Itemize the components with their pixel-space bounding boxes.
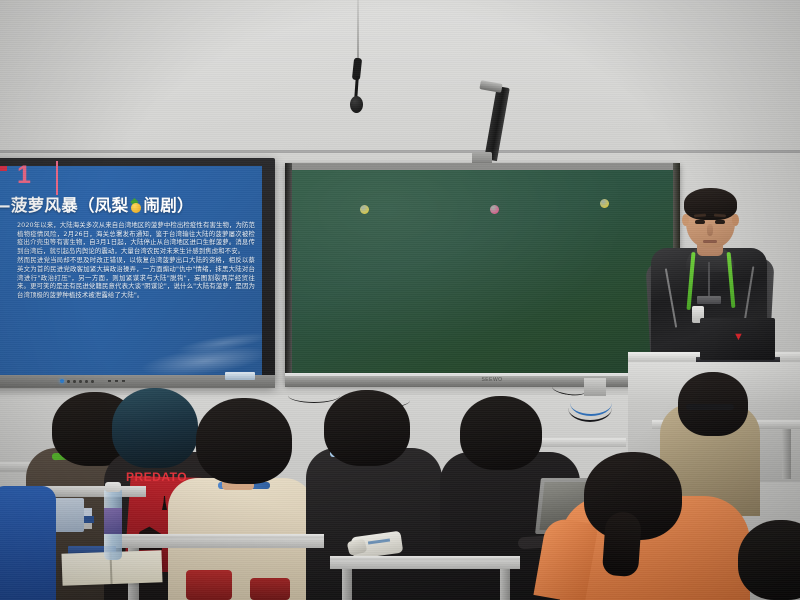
- magnet-pink-center: [490, 205, 499, 214]
- student-orange-ponytail: [602, 511, 642, 577]
- presenter-eye-left: [695, 220, 705, 224]
- presenter-nose: [707, 224, 713, 236]
- slide-paragraph-1: 2020年以来，大陆海关多次从来自台湾地区的菠萝中检出检疫性有害生物，为防范植物…: [17, 221, 255, 255]
- display-button-group-secondary[interactable]: [108, 380, 125, 382]
- presenter-zipper: [708, 262, 710, 296]
- screen-glare: [139, 340, 262, 375]
- presenter-mouth: [703, 240, 717, 243]
- display-aux-button-2[interactable]: [115, 380, 118, 382]
- student-right-hoodie-head: [460, 396, 542, 470]
- presenter-hair: [684, 188, 737, 220]
- student-predator-head: [112, 388, 198, 468]
- display-button-3[interactable]: [79, 380, 82, 383]
- classroom-photo: SEEWO 1 —菠萝风暴（凤梨闹剧） 2020年以来，大陆海关多次从来自台湾地…: [0, 0, 800, 600]
- green-chalkboard: [292, 170, 673, 373]
- front-desk-edge: [104, 534, 324, 538]
- presenter-chest-patch: [697, 296, 721, 304]
- water-bottle-label: [104, 508, 122, 534]
- chalkboard-left-edge: [285, 163, 292, 385]
- center-desk-edge: [330, 556, 520, 560]
- display-button-4[interactable]: [85, 380, 88, 383]
- magnet-yellow-left: [360, 205, 369, 214]
- microphone-cable: [357, 0, 359, 62]
- hanging-microphone-icon: [350, 96, 363, 113]
- presenter-eye-right: [715, 220, 725, 224]
- display-aux-button-1[interactable]: [108, 380, 111, 382]
- student-center-torso: [306, 448, 442, 600]
- chalkboard-brand-label: SEEWO: [470, 377, 514, 384]
- student-center-head: [324, 390, 410, 466]
- wall-highlight: [0, 0, 800, 150]
- black-cable: [568, 394, 612, 422]
- laptop-brand-logo-icon: ▼: [733, 332, 743, 343]
- wall-cable-1: [288, 388, 340, 403]
- red-chair: [186, 570, 232, 600]
- wall-seam: [0, 150, 800, 153]
- student-khaki-vest-lanyard: [686, 404, 734, 410]
- blue-jacket-on-chair: [0, 486, 56, 600]
- slide-title-suffix: 闹剧）: [143, 196, 193, 215]
- slide-title-prefix: —: [0, 196, 11, 215]
- display-button-1[interactable]: [67, 380, 70, 383]
- water-bottle-cap: [105, 482, 121, 492]
- slide-paragraph-2: 然而民进党当局却不思及时改正错误，以恢复台湾菠萝出口大陆的资格，相反以蔡英文为首…: [17, 256, 255, 299]
- center-desk-leg-1: [342, 569, 352, 600]
- slide-body-text: 2020年以来，大陆海关多次从来自台湾地区的菠萝中检出检疫性有害生物，为防范植物…: [17, 221, 255, 300]
- desk-leg-3: [782, 429, 791, 479]
- slide-title: —菠萝风暴（凤梨闹剧）: [0, 192, 262, 216]
- slide-number: 1: [17, 163, 32, 188]
- red-chair-2: [250, 578, 290, 600]
- display-button-2[interactable]: [73, 380, 76, 383]
- display-button-group[interactable]: [60, 379, 94, 383]
- presenter-ear-right: [732, 214, 739, 226]
- student-cream-sweater-head: [196, 398, 292, 484]
- display-brand-plate: [225, 372, 255, 380]
- screen-glare-secondary: [175, 329, 262, 358]
- slide-divider-rule: [56, 161, 58, 195]
- slide-red-mark: [0, 166, 7, 171]
- magnet-yellow-right: [600, 199, 609, 208]
- chalk-tray-highlight: [285, 373, 680, 376]
- power-indicator-icon[interactable]: [60, 379, 64, 383]
- pineapple-emoji: [129, 199, 142, 213]
- center-desk-leg-2: [500, 569, 510, 600]
- slide-title-main: 菠萝风暴（凤梨: [11, 196, 129, 215]
- display-aux-button-3[interactable]: [122, 380, 125, 382]
- display-button-5[interactable]: [91, 380, 94, 383]
